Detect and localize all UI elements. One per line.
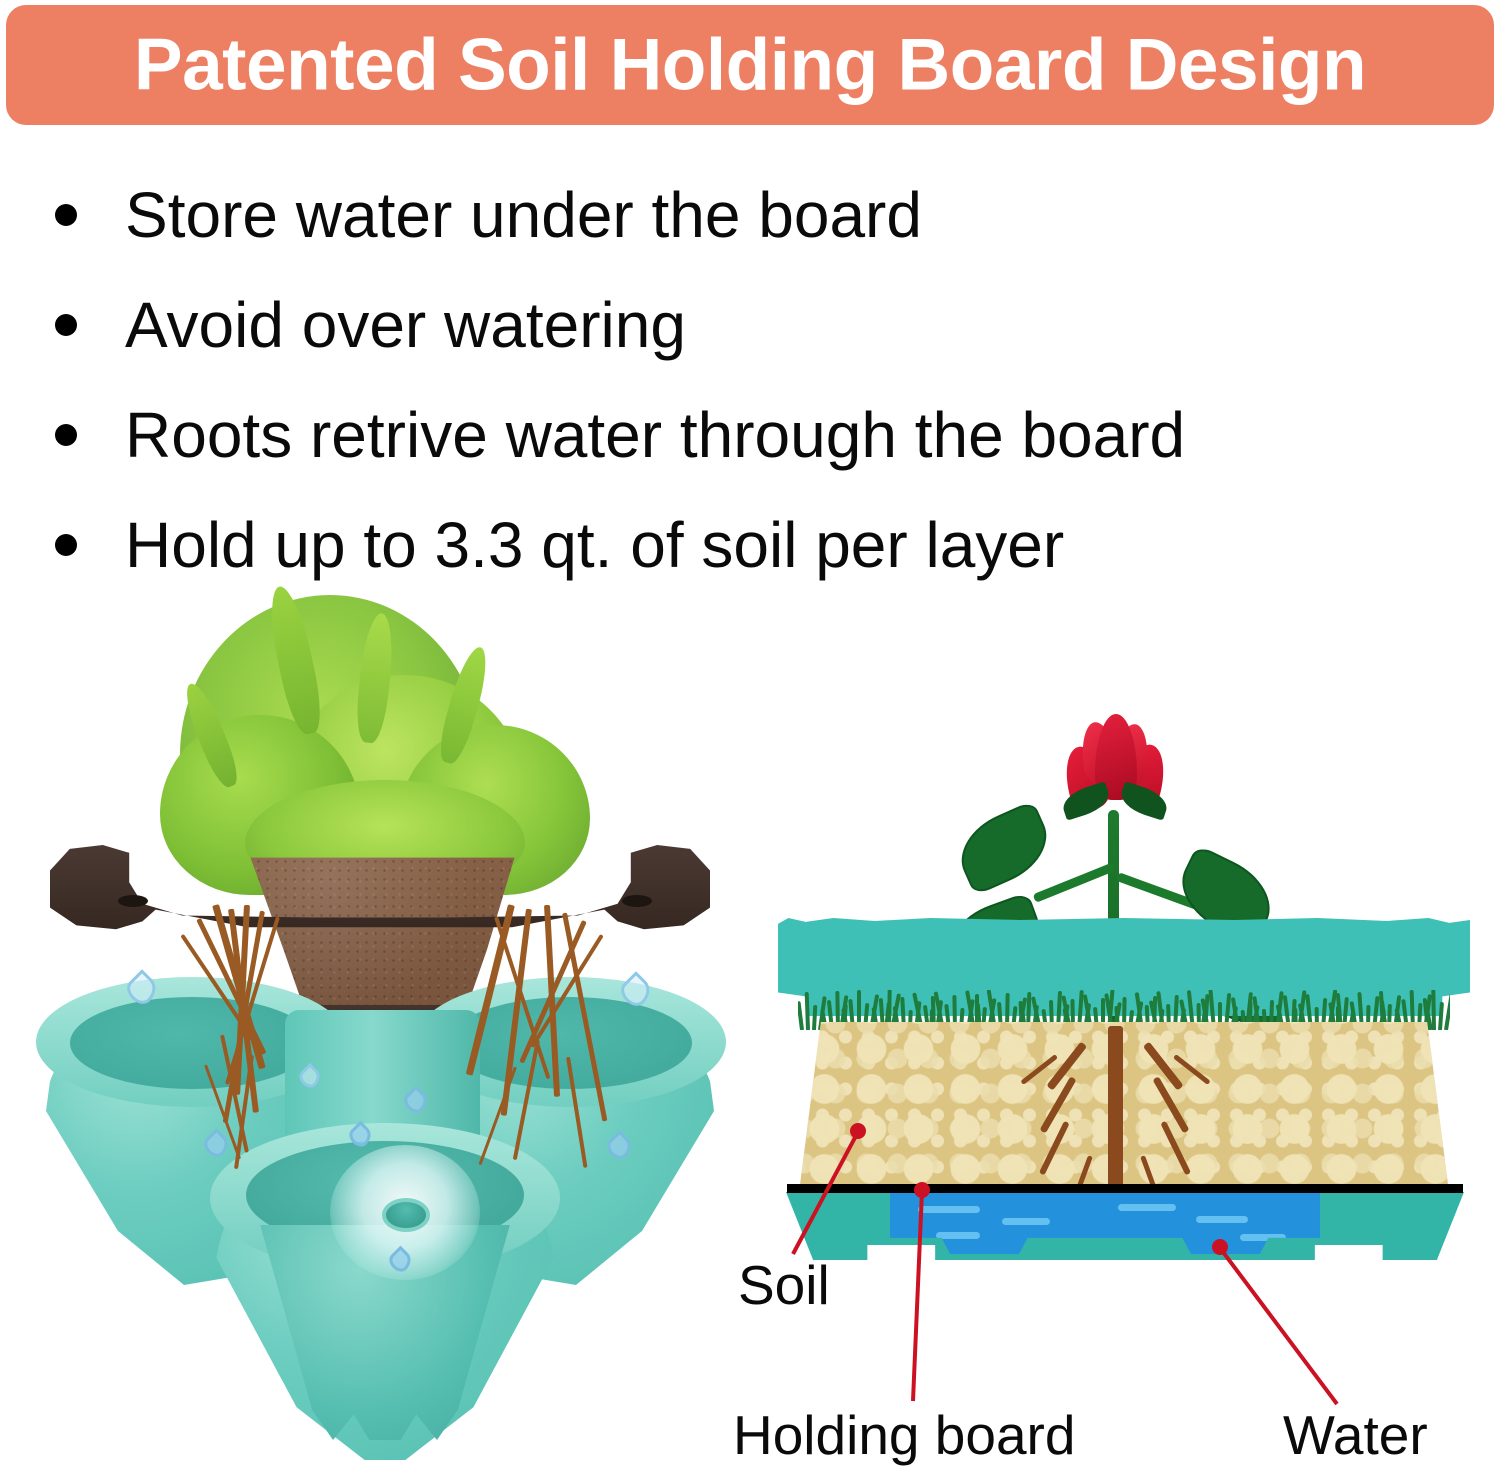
rose-flower [1062, 712, 1168, 820]
holding-board-line [787, 1184, 1463, 1193]
grass-blade [805, 992, 810, 1030]
board-hole [622, 895, 652, 907]
bullet-dot-icon [55, 534, 77, 556]
cross-section-diagram [760, 690, 1500, 1470]
feature-text: Hold up to 3.3 qt. of soil per layer [125, 513, 1064, 577]
list-item: Roots retrive water through the board [55, 380, 1455, 490]
grass-blade [812, 1005, 817, 1030]
rose-leaf [949, 800, 1059, 896]
grass-blade [1438, 1002, 1444, 1030]
feature-text: Roots retrive water through the board [125, 403, 1185, 467]
list-item: Avoid over watering [55, 270, 1455, 380]
leaf-branch [1033, 862, 1116, 903]
water-wave [936, 1232, 980, 1239]
water-wave [918, 1206, 980, 1213]
label-water: Water [1283, 1408, 1428, 1463]
grass-blade [1431, 990, 1436, 1030]
board-hole [118, 895, 148, 907]
label-soil: Soil [738, 1258, 830, 1313]
drain-hole [382, 1198, 430, 1232]
water-wave [1196, 1216, 1248, 1223]
feature-list: Store water under the board Avoid over w… [55, 160, 1455, 600]
grass-blade [798, 1001, 804, 1030]
water-wave [1002, 1218, 1050, 1225]
list-item: Store water under the board [55, 160, 1455, 270]
list-item: Hold up to 3.3 qt. of soil per layer [55, 490, 1455, 600]
bullet-dot-icon [55, 424, 77, 446]
grass-blade [1444, 993, 1450, 1030]
label-holding-board: Holding board [733, 1408, 1075, 1463]
feature-text: Avoid over watering [125, 293, 686, 357]
bullet-dot-icon [55, 314, 77, 336]
water-wave [1118, 1204, 1176, 1211]
header-banner: Patented Soil Holding Board Design [6, 5, 1494, 125]
page-title: Patented Soil Holding Board Design [6, 29, 1494, 102]
planter-lobe-left-inner [70, 997, 314, 1089]
rose-sepal [1117, 781, 1171, 821]
product-photo-stacked-planter [30, 585, 730, 1455]
feature-text: Store water under the board [125, 183, 922, 247]
bullet-dot-icon [55, 204, 77, 226]
